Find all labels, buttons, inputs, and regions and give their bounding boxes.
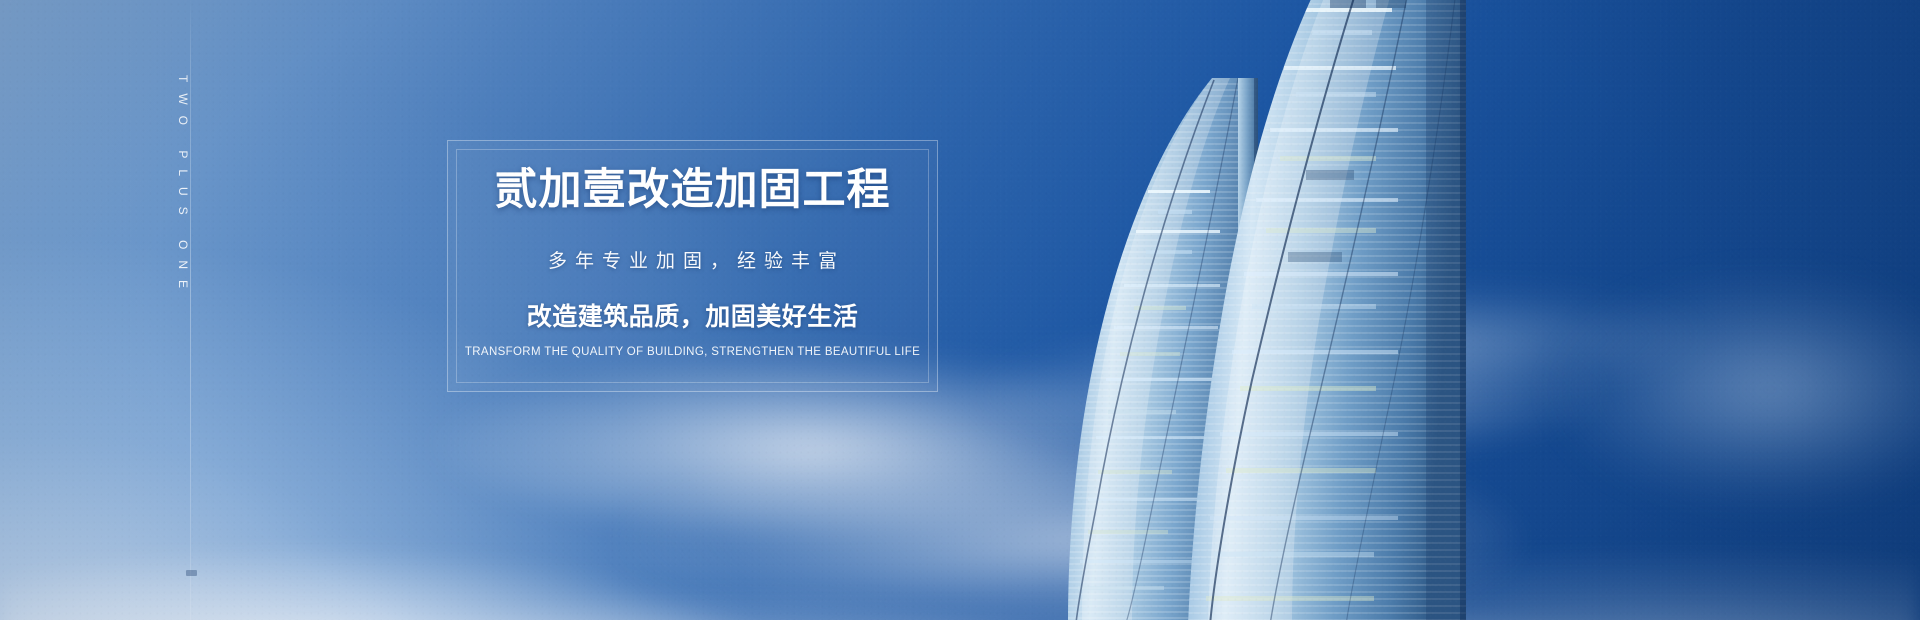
- tower-right-svg: [1180, 0, 1520, 620]
- hero-subtitle: 多年专业加固，经验丰富: [540, 246, 845, 273]
- hero-tagline-english: TRANSFORM THE QUALITY OF BUILDING, STREN…: [465, 346, 920, 358]
- hero-banner: TWO PLUS ONE 贰加壹改造加固工程 多年专业加固，经验丰富 改造建筑品…: [0, 0, 1920, 620]
- brand-vertical-rule: [190, 0, 191, 620]
- skyline-illustration: [0, 0, 1920, 620]
- hero-tagline: 改造建筑品质，加固美好生活: [527, 297, 859, 333]
- hero-panel-content: 贰加壹改造加固工程 多年专业加固，经验丰富 改造建筑品质，加固美好生活 TRAN…: [448, 141, 937, 391]
- brand-mark-icon: [186, 570, 197, 576]
- page-title: 贰加壹改造加固工程: [495, 169, 891, 212]
- curved-glass-skyscraper-right: [1180, 0, 1520, 620]
- brand-vertical-text: TWO PLUS ONE: [176, 75, 190, 299]
- hero-text-panel: 贰加壹改造加固工程 多年专业加固，经验丰富 改造建筑品质，加固美好生活 TRAN…: [447, 140, 938, 392]
